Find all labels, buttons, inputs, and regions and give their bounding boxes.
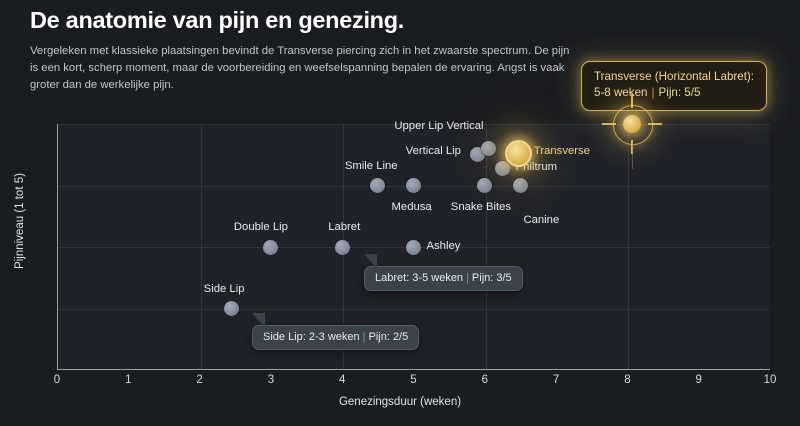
- tooltip-side-lip: Side Lip: 2-3 weken|Pijn: 2/5: [252, 325, 419, 350]
- x-axis-tick-label: 1: [108, 374, 148, 386]
- data-point-label: Medusa: [392, 201, 432, 213]
- tooltip-pain-text: Pijn: 2/5: [368, 331, 408, 343]
- gridline-vertical: [201, 124, 202, 369]
- data-point[interactable]: [481, 141, 496, 156]
- crosshair-tick-up: [631, 94, 633, 108]
- y-axis-title: Pijnniveau (1 tot 5): [14, 131, 26, 311]
- crosshair-tick-left: [602, 123, 616, 125]
- tooltip-duration-text: Side Lip: 2-3 weken: [263, 331, 360, 343]
- data-point-label: Vertical Lip: [406, 145, 461, 157]
- gridline-horizontal: [58, 309, 770, 310]
- x-axis-tick-label: 5: [394, 374, 434, 386]
- tooltip-separator: |: [463, 272, 472, 284]
- crosshair-stem: [632, 143, 633, 169]
- x-axis-tick-label: 2: [180, 374, 220, 386]
- x-axis-tick-label: 9: [679, 374, 719, 386]
- x-axis-tick-label: 3: [251, 374, 291, 386]
- tooltip-pointer: [245, 313, 265, 328]
- x-axis-tick-label: 4: [322, 374, 362, 386]
- data-point-label: Side Lip: [204, 283, 245, 295]
- data-point-label: Ashley: [427, 240, 461, 252]
- tooltip-duration-text: Labret: 3-5 weken: [375, 272, 463, 284]
- gridline-vertical: [486, 124, 487, 369]
- scatter-chart: 12345012345678910 Side LipDouble LipLabr…: [0, 0, 800, 426]
- data-point[interactable]: [335, 240, 350, 255]
- data-point[interactable]: [263, 240, 278, 255]
- data-point[interactable]: [406, 178, 421, 193]
- data-point-label: Transverse: [534, 145, 590, 157]
- x-axis-tick-label: 0: [37, 374, 77, 386]
- tooltip-pointer: [357, 254, 377, 269]
- x-axis-tick-label: 8: [607, 374, 647, 386]
- x-axis-tick-label: 6: [465, 374, 505, 386]
- tooltip-labret: Labret: 3-5 weken|Pijn: 3/5: [364, 266, 523, 291]
- data-point-label: Upper Lip Vertical: [394, 120, 483, 132]
- x-axis-tick-label: 7: [536, 374, 576, 386]
- data-point-label: Canine: [523, 214, 559, 226]
- data-point-label: Double Lip: [234, 221, 288, 233]
- data-point[interactable]: [495, 161, 510, 176]
- data-point[interactable]: [513, 178, 528, 193]
- data-point-label: Labret: [328, 221, 360, 233]
- crosshair-tick-right: [648, 123, 662, 125]
- x-axis-tick-label: 10: [750, 374, 790, 386]
- x-axis-title: Genezingsduur (weken): [0, 396, 800, 408]
- data-point[interactable]: [406, 240, 421, 255]
- tooltip-pain-text: Pijn: 3/5: [472, 272, 512, 284]
- data-point-label: Snake Bites: [451, 201, 511, 213]
- data-point-label: Smile Line: [345, 160, 398, 172]
- crosshair-core-dot: [623, 115, 641, 133]
